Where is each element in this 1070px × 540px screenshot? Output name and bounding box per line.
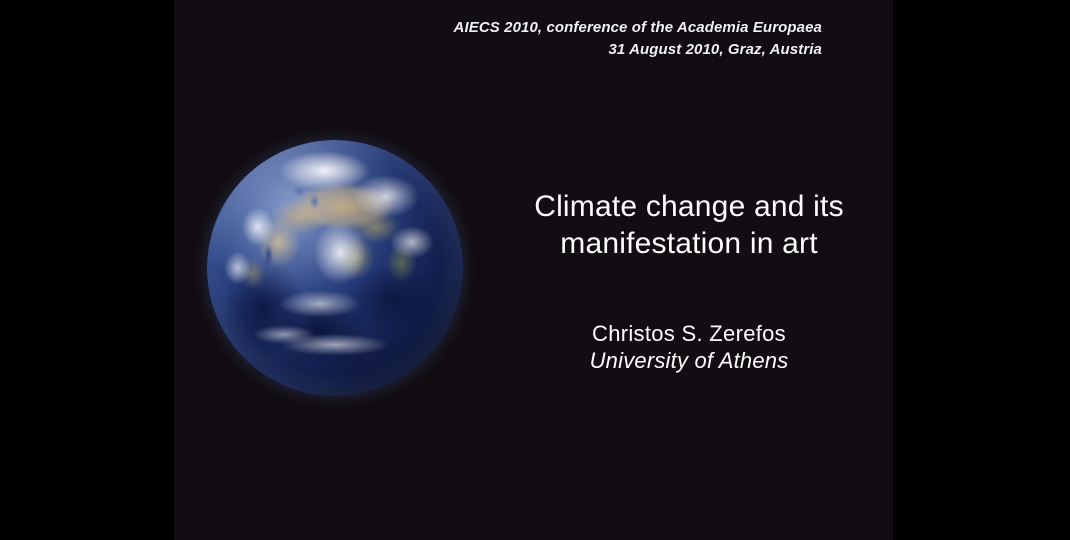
conference-name-line: AIECS 2010, conference of the Academia E…: [454, 17, 822, 39]
video-viewport: AIECS 2010, conference of the Academia E…: [0, 0, 1070, 540]
conference-header: AIECS 2010, conference of the Academia E…: [454, 17, 822, 61]
author-name: Christos S. Zerefos: [504, 320, 874, 347]
earth-terminator-shading: [207, 140, 463, 396]
slide-title-line-1: Climate change and its: [504, 188, 874, 225]
author-block: Christos S. Zerefos University of Athens: [504, 320, 874, 375]
earth-globe-disc: [207, 140, 463, 396]
earth-globe-image: [207, 140, 463, 396]
author-affiliation: University of Athens: [504, 347, 874, 375]
presentation-slide: AIECS 2010, conference of the Academia E…: [174, 0, 893, 540]
slide-title: Climate change and its manifestation in …: [504, 188, 874, 262]
conference-date-location-line: 31 August 2010, Graz, Austria: [454, 39, 822, 61]
slide-title-line-2: manifestation in art: [504, 225, 874, 262]
